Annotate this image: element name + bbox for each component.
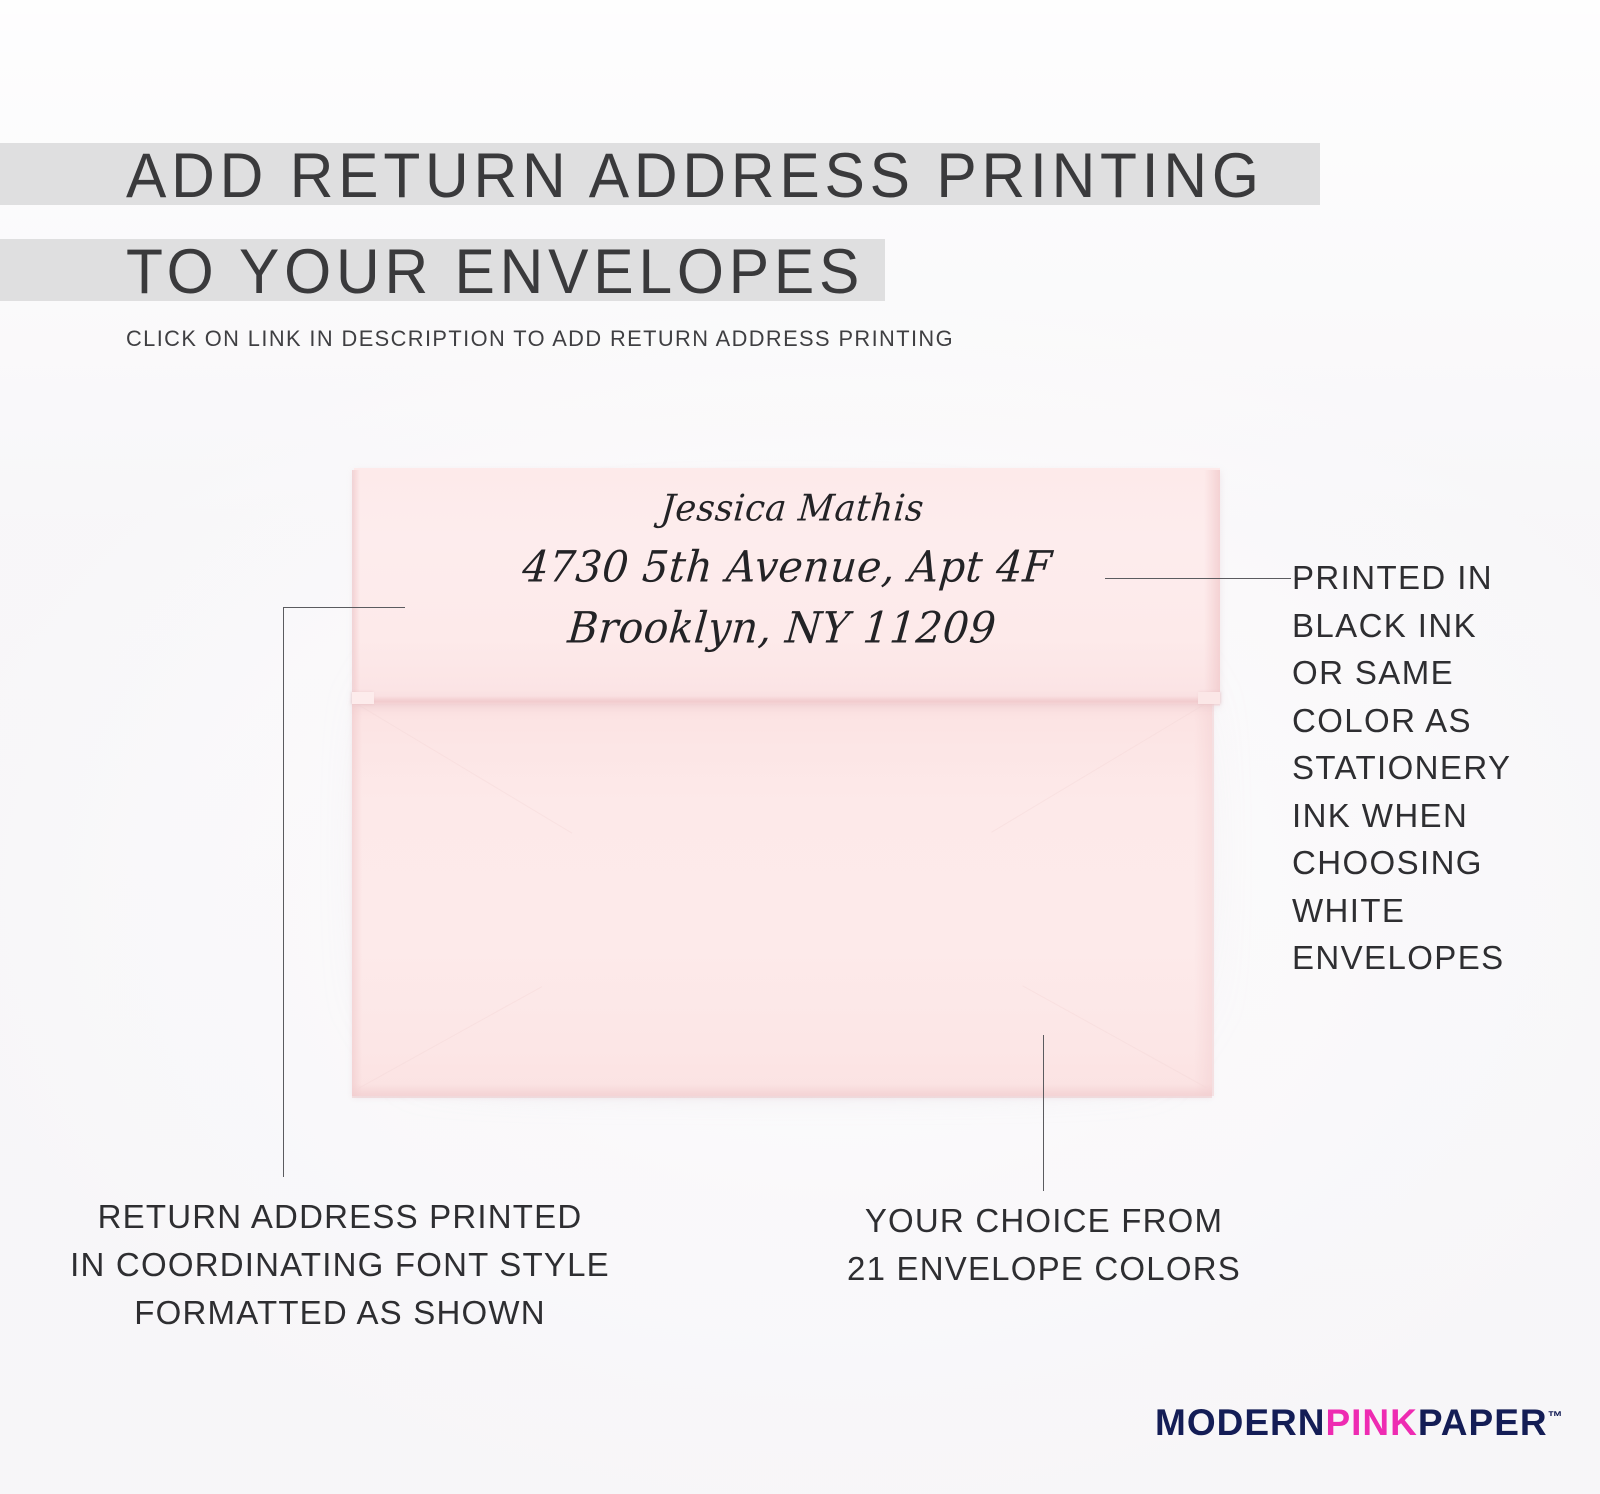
return-address-block: Jessica Mathis 4730 5th Avenue, Apt 4F B… bbox=[346, 484, 1227, 658]
trademark-icon: ™ bbox=[1548, 1409, 1563, 1426]
envelope-flap-right-edge bbox=[1204, 470, 1220, 704]
page-title-line-2: TO YOUR ENVELOPES bbox=[126, 241, 864, 304]
callout-ink-color-line-3: OR SAME bbox=[1292, 649, 1592, 697]
brand-logo-modern: MODERN bbox=[1155, 1402, 1325, 1443]
envelope-body bbox=[352, 698, 1212, 1096]
callout-font-style-line-3: FORMATTED AS SHOWN bbox=[40, 1289, 640, 1337]
envelope-flap-corner-right bbox=[1198, 692, 1220, 704]
callout-envelope-colors-line-2: 21 ENVELOPE COLORS bbox=[843, 1245, 1245, 1293]
callout-ink-color-line-4: COLOR AS bbox=[1292, 697, 1592, 745]
envelope-body-right-edge bbox=[1194, 698, 1214, 1096]
brand-logo: MODERNPINKPAPER™ bbox=[1155, 1404, 1563, 1441]
callout-ink-color: PRINTED IN BLACK INK OR SAME COLOR AS ST… bbox=[1292, 554, 1592, 982]
envelope-flap: Jessica Mathis 4730 5th Avenue, Apt 4F B… bbox=[354, 468, 1220, 704]
callout-leader-line-middle-vertical bbox=[1043, 1035, 1044, 1191]
promo-graphic-canvas: ADD RETURN ADDRESS PRINTING TO YOUR ENVE… bbox=[0, 0, 1600, 1494]
envelope-flap-corner-left bbox=[352, 692, 374, 704]
callout-ink-color-line-1: PRINTED IN bbox=[1292, 554, 1592, 602]
callout-ink-color-line-7: CHOOSING bbox=[1292, 839, 1592, 887]
envelope-body-left-edge bbox=[352, 698, 362, 1096]
return-address-name: Jessica Mathis bbox=[357, 484, 1228, 536]
envelope-mockup: Jessica Mathis 4730 5th Avenue, Apt 4F B… bbox=[352, 468, 1220, 1096]
callout-font-style-line-1: RETURN ADDRESS PRINTED bbox=[40, 1193, 640, 1241]
callout-envelope-colors: YOUR CHOICE FROM 21 ENVELOPE COLORS bbox=[843, 1197, 1245, 1293]
callout-leader-line-left-horizontal bbox=[283, 607, 405, 608]
callout-ink-color-line-9: ENVELOPES bbox=[1292, 934, 1592, 982]
callout-ink-color-line-6: INK WHEN bbox=[1292, 792, 1592, 840]
callout-font-style: RETURN ADDRESS PRINTED IN COORDINATING F… bbox=[40, 1193, 640, 1337]
brand-logo-paper: PAPER bbox=[1418, 1402, 1548, 1443]
callout-font-style-line-2: IN COORDINATING FONT STYLE bbox=[40, 1241, 640, 1289]
callout-ink-color-line-2: BLACK INK bbox=[1292, 602, 1592, 650]
callout-leader-line-left-vertical bbox=[283, 607, 284, 1177]
envelope-flap-fold-line bbox=[354, 696, 1220, 706]
callout-envelope-colors-line-1: YOUR CHOICE FROM bbox=[843, 1197, 1245, 1245]
return-address-street: 4730 5th Avenue, Apt 4F bbox=[352, 536, 1223, 597]
brand-logo-pink: PINK bbox=[1325, 1402, 1417, 1443]
callout-ink-color-line-8: WHITE bbox=[1292, 887, 1592, 935]
callout-leader-line-right bbox=[1105, 578, 1291, 579]
return-address-city-state-zip: Brooklyn, NY 11209 bbox=[346, 597, 1217, 658]
page-subtitle: CLICK ON LINK IN DESCRIPTION TO ADD RETU… bbox=[126, 326, 954, 352]
page-title-line-1: ADD RETURN ADDRESS PRINTING bbox=[126, 145, 1264, 208]
callout-ink-color-line-5: STATIONERY bbox=[1292, 744, 1592, 792]
envelope-flap-left-edge bbox=[352, 470, 360, 704]
envelope-body-bottom-edge bbox=[352, 1084, 1212, 1098]
